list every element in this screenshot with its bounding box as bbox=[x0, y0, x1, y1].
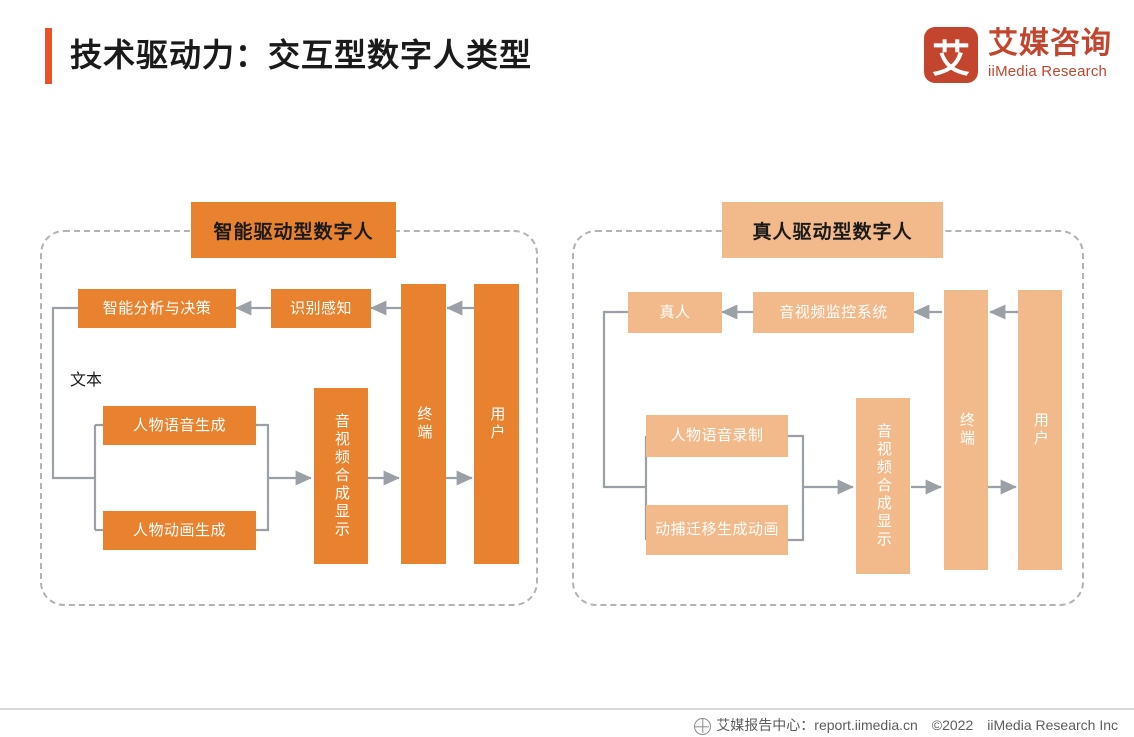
node-intelligent-voice-generation[interactable]: 人物语音生成 bbox=[103, 406, 256, 445]
panel-title-human-driven: 真人驱动型数字人 bbox=[722, 202, 943, 258]
node-intelligent-perception[interactable]: 识别感知 bbox=[271, 289, 371, 328]
footer-source: 艾媒报告中心：report.iimedia.cn bbox=[716, 715, 918, 735]
node-intelligent-terminal[interactable]: 终端 bbox=[401, 284, 446, 564]
node-human-terminal[interactable]: 终端 bbox=[944, 290, 988, 570]
node-human-mocap-animation[interactable]: 动捕迁移生成动画 bbox=[646, 505, 788, 555]
node-intelligent-av-synthesis-label: 音视频合成显示 bbox=[333, 413, 349, 539]
footer-divider bbox=[0, 708, 1134, 710]
node-intelligent-animation-generation[interactable]: 人物动画生成 bbox=[103, 511, 256, 550]
node-human-av-synthesis-label: 音视频合成显示 bbox=[875, 423, 891, 549]
node-intelligent-av-synthesis[interactable]: 音视频合成显示 bbox=[314, 388, 368, 564]
node-intelligent-user[interactable]: 用户 bbox=[474, 284, 519, 564]
panel-title-intelligent-driven: 智能驱动型数字人 bbox=[191, 202, 396, 258]
footer-company: iiMedia Research Inc bbox=[987, 717, 1118, 733]
diagram-stage: 智能驱动型数字人 真人驱动型数字人 智能分析与决策 识别感知 文本 人物语音生成… bbox=[0, 0, 1134, 700]
node-human-user[interactable]: 用户 bbox=[1018, 290, 1062, 570]
node-human-av-synthesis[interactable]: 音视频合成显示 bbox=[856, 398, 910, 574]
page-footer: 艾媒报告中心：report.iimedia.cn ©2022 iiMedia R… bbox=[0, 712, 1134, 737]
footer-copyright: ©2022 bbox=[932, 717, 973, 733]
node-intelligent-user-label: 用户 bbox=[489, 406, 505, 442]
node-intelligent-analysis[interactable]: 智能分析与决策 bbox=[78, 289, 236, 328]
node-human-terminal-label: 终端 bbox=[958, 412, 974, 448]
globe-icon bbox=[694, 718, 711, 735]
label-text-flow: 文本 bbox=[70, 366, 102, 390]
node-intelligent-terminal-label: 终端 bbox=[416, 406, 432, 442]
node-human-av-monitor[interactable]: 音视频监控系统 bbox=[753, 292, 914, 333]
node-human-voice-recording[interactable]: 人物语音录制 bbox=[646, 415, 788, 457]
node-human-user-label: 用户 bbox=[1032, 412, 1048, 448]
node-human-real-person[interactable]: 真人 bbox=[628, 292, 722, 333]
